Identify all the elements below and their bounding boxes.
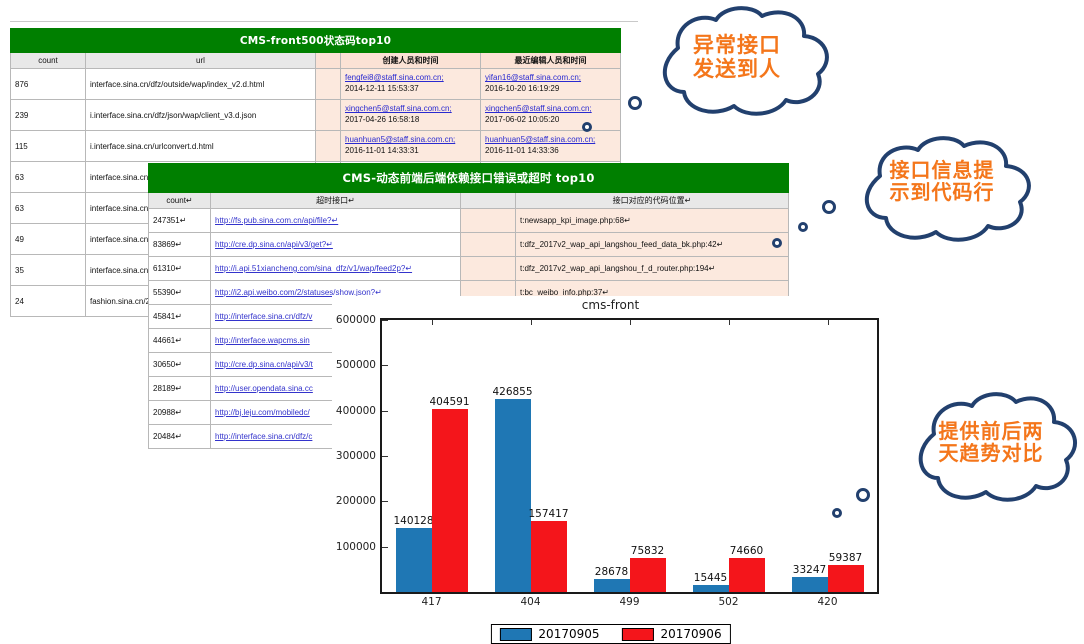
legend-item[interactable]: 20170906 xyxy=(622,627,722,641)
editor-time: 2016-11-01 14:33:36 xyxy=(485,146,616,157)
x-tick-label: 420 xyxy=(817,596,837,608)
callout-1-tail-dot-large xyxy=(628,96,642,110)
table1-header-creator: 创建人员和时间 xyxy=(341,53,481,69)
bar-group: 2867875832499 xyxy=(580,320,679,592)
callout-3-tail-dot-large xyxy=(856,488,870,502)
cell-code-location: t:dfz_2017v2_wap_api_langshou_feed_data_… xyxy=(516,233,789,257)
table2-header-count: count↵ xyxy=(149,193,211,209)
bar-value-label: 157417 xyxy=(528,508,568,520)
cell-count: 876 xyxy=(11,69,86,100)
x-tick-mark xyxy=(531,320,532,325)
cell-url: i.interface.sina.cn/dfz/json/wap/client_… xyxy=(86,100,316,131)
x-tick-label: 404 xyxy=(520,596,540,608)
creator-email-link[interactable]: huanhuan5@staff.sina.com.cn; xyxy=(345,135,455,144)
table-row: 61310↵ http://i.api.51xiancheng.com/sina… xyxy=(149,257,789,281)
table1-header-gap xyxy=(316,53,341,69)
bar-group: 3324759387420 xyxy=(778,320,877,592)
y-tick-label: 400000 xyxy=(336,405,376,417)
callout-3-line1: 提供前后两 xyxy=(898,420,1084,442)
cell-count: 20484↵ xyxy=(149,425,211,449)
callout-2-tail-dot-mid xyxy=(798,222,808,232)
api-url-link[interactable]: http://interface.wapcms.sin xyxy=(215,336,310,345)
cell-count: 30650↵ xyxy=(149,353,211,377)
api-url-link[interactable]: http://cre.dp.sina.cn/api/v3/t xyxy=(215,360,313,369)
table-row: 247351↵ http://fs.pub.sina.com.cn/api/fi… xyxy=(149,209,789,233)
callout-3-line2: 天趋势对比 xyxy=(898,442,1084,464)
cell-count: 55390↵ xyxy=(149,281,211,305)
cell-url: http://cre.dp.sina.cn/api/v3/get?↵ xyxy=(211,233,461,257)
table-row: 876 interface.sina.cn/dfz/outside/wap/in… xyxy=(11,69,621,100)
callout-bubble-3: 提供前后两 天趋势对比 xyxy=(898,390,1084,512)
editor-time: 2017-06-02 10:05:20 xyxy=(485,115,616,126)
bar-group: 140128404591417 xyxy=(382,320,481,592)
bar-20170905-417: 140128 xyxy=(396,528,432,592)
editor-email-link[interactable]: yifan16@staff.sina.com.cn; xyxy=(485,73,581,82)
api-url-link[interactable]: http://cre.dp.sina.cn/api/v3/get?↵ xyxy=(215,240,333,249)
bar-20170905-404: 426855 xyxy=(495,399,531,593)
cell-editor: yifan16@staff.sina.com.cn; 2016-10-20 16… xyxy=(481,69,621,100)
api-url-link[interactable]: http://fs.pub.sina.com.cn/api/file?↵ xyxy=(215,216,338,225)
cell-url: http://i.api.51xiancheng.com/sina_dfz/v1… xyxy=(211,257,461,281)
table1-header-editor: 最近编辑人员和时间 xyxy=(481,53,621,69)
cell-spacer xyxy=(461,209,516,233)
cell-editor: xingchen5@staff.sina.com.cn; 2017-06-02 … xyxy=(481,100,621,131)
cell-count: 83869↵ xyxy=(149,233,211,257)
cell-creator: fengfei8@staff.sina.com.cn; 2014-12-11 1… xyxy=(341,69,481,100)
cell-creator: huanhuan5@staff.sina.com.cn; 2016-11-01 … xyxy=(341,131,481,162)
cell-spacer xyxy=(461,257,516,281)
table-row: 239 i.interface.sina.cn/dfz/json/wap/cli… xyxy=(11,100,621,131)
api-url-link[interactable]: http://i.api.51xiancheng.com/sina_dfz/v1… xyxy=(215,264,412,273)
api-url-link[interactable]: http://interface.sina.cn/dfz/c xyxy=(215,432,312,441)
cell-editor: huanhuan5@staff.sina.com.cn; 2016-11-01 … xyxy=(481,131,621,162)
callout-3-text: 提供前后两 天趋势对比 xyxy=(898,420,1084,465)
callout-2-line1: 接口信息提 xyxy=(838,159,1046,181)
creator-email-link[interactable]: xingchen5@staff.sina.com.cn; xyxy=(345,104,452,113)
x-tick-mark xyxy=(828,320,829,325)
bar-value-label: 140128 xyxy=(393,515,433,527)
cell-spacer xyxy=(461,233,516,257)
callout-bubble-2: 接口信息提 示到代码行 xyxy=(838,134,1046,250)
cell-spacer xyxy=(316,131,341,162)
bar-20170905-502: 15445 xyxy=(693,585,729,592)
table2-title: CMS-动态前端后端依赖接口错误或超时 top10 xyxy=(149,164,789,193)
legend-swatch xyxy=(499,628,531,641)
bar-value-label: 404591 xyxy=(429,396,469,408)
callout-1-line1: 异常接口 xyxy=(634,34,840,58)
cell-creator: xingchen5@staff.sina.com.cn; 2017-04-26 … xyxy=(341,100,481,131)
table2-header-timeout-api: 超时接口↵ xyxy=(211,193,461,209)
editor-email-link[interactable]: xingchen5@staff.sina.com.cn; xyxy=(485,104,592,113)
x-tick-mark xyxy=(630,320,631,325)
x-tick-label: 499 xyxy=(619,596,639,608)
table1-title: CMS-front500状态码top10 xyxy=(11,29,621,53)
cell-count: 63 xyxy=(11,162,86,193)
cell-spacer xyxy=(316,69,341,100)
api-url-link[interactable]: http://interface.sina.cn/dfz/v xyxy=(215,312,312,321)
legend-item[interactable]: 20170905 xyxy=(499,627,599,641)
bar-20170905-499: 28678 xyxy=(594,579,630,592)
chart-legend: 2017090520170906 xyxy=(490,624,730,644)
bar-value-label: 33247 xyxy=(793,564,826,576)
cell-count: 45841↵ xyxy=(149,305,211,329)
cell-spacer xyxy=(316,100,341,131)
api-url-link[interactable]: http://user.opendata.sina.cc xyxy=(215,384,313,393)
cell-url: interface.sina.cn/dfz/outside/wap/index_… xyxy=(86,69,316,100)
bar-20170906-417: 404591 xyxy=(432,409,468,592)
bar-value-label: 15445 xyxy=(694,572,727,584)
y-tick-label: 600000 xyxy=(336,314,376,326)
callout-1-line2: 发送到人 xyxy=(634,58,840,82)
legend-label: 20170906 xyxy=(661,627,722,641)
cell-count: 63 xyxy=(11,193,86,224)
bar-value-label: 59387 xyxy=(829,552,862,564)
cell-count: 239 xyxy=(11,100,86,131)
table1-header-url: url xyxy=(86,53,316,69)
cell-count: 247351↵ xyxy=(149,209,211,233)
x-tick-mark xyxy=(729,320,730,325)
bar-value-label: 75832 xyxy=(631,545,664,557)
table-row: 115 i.interface.sina.cn/urlconvert.d.htm… xyxy=(11,131,621,162)
chart-plot-area: 100000200000300000400000500000600000 140… xyxy=(380,318,879,594)
cell-count: 115 xyxy=(11,131,86,162)
x-tick-label: 502 xyxy=(718,596,738,608)
y-tick-label: 200000 xyxy=(336,495,376,507)
cell-count: 61310↵ xyxy=(149,257,211,281)
legend-label: 20170905 xyxy=(538,627,599,641)
callout-bubble-1: 异常接口 发送到人 xyxy=(634,4,840,124)
cell-count: 28189↵ xyxy=(149,377,211,401)
bar-20170906-420: 59387 xyxy=(828,565,864,592)
cell-code-location: t:newsapp_kpi_image.php:68↵ xyxy=(516,209,789,233)
editor-email-link[interactable]: huanhuan5@staff.sina.com.cn; xyxy=(485,135,595,144)
callout-2-line2: 示到代码行 xyxy=(838,181,1046,203)
callout-3-tail-dot-small xyxy=(832,508,842,518)
cell-count: 20988↵ xyxy=(149,401,211,425)
creator-time: 2017-04-26 16:58:18 xyxy=(345,115,476,126)
bar-value-label: 74660 xyxy=(730,545,763,557)
cell-count: 44661↵ xyxy=(149,329,211,353)
bar-20170906-502: 74660 xyxy=(729,558,765,592)
bar-group: 426855157417404 xyxy=(481,320,580,592)
bar-value-label: 28678 xyxy=(595,566,628,578)
x-tick-mark xyxy=(432,320,433,325)
api-url-link[interactable]: http://bj.leju.com/mobiledc/ xyxy=(215,408,310,417)
y-tick-label: 300000 xyxy=(336,450,376,462)
cell-code-location: t:dfz_2017v2_wap_api_langshou_f_d_router… xyxy=(516,257,789,281)
creator-email-link[interactable]: fengfei8@staff.sina.com.cn; xyxy=(345,73,444,82)
bar-20170906-499: 75832 xyxy=(630,558,666,592)
x-tick-label: 417 xyxy=(421,596,441,608)
bar-20170906-404: 157417 xyxy=(531,521,567,592)
cell-url: i.interface.sina.cn/urlconvert.d.html xyxy=(86,131,316,162)
bar-chart-cms-front: cms-front 100000200000300000400000500000… xyxy=(332,296,889,644)
top-divider-rule xyxy=(10,21,638,22)
legend-swatch xyxy=(622,628,654,641)
chart-bars: 1401284045914174268551574174042867875832… xyxy=(382,320,877,592)
callout-1-text: 异常接口 发送到人 xyxy=(634,34,840,81)
cell-url: http://fs.pub.sina.com.cn/api/file?↵ xyxy=(211,209,461,233)
table2-header-gap xyxy=(461,193,516,209)
table1-header-count: count xyxy=(11,53,86,69)
cell-count: 24 xyxy=(11,286,86,317)
y-tick-label: 500000 xyxy=(336,359,376,371)
bar-value-label: 426855 xyxy=(492,386,532,398)
callout-1-tail-dot-small xyxy=(582,122,592,132)
editor-time: 2016-10-20 16:19:29 xyxy=(485,84,616,95)
chart-title: cms-front xyxy=(332,298,889,312)
bar-group: 1544574660502 xyxy=(679,320,778,592)
callout-2-tail-dot-small xyxy=(772,238,782,248)
bar-20170905-420: 33247 xyxy=(792,577,828,592)
callout-2-text: 接口信息提 示到代码行 xyxy=(838,159,1046,204)
table-row: 83869↵ http://cre.dp.sina.cn/api/v3/get?… xyxy=(149,233,789,257)
creator-time: 2016-11-01 14:33:31 xyxy=(345,146,476,157)
table2-header-code-location: 接口对应的代码位置↵ xyxy=(516,193,789,209)
creator-time: 2014-12-11 15:53:37 xyxy=(345,84,476,95)
cell-count: 35 xyxy=(11,255,86,286)
y-tick-label: 100000 xyxy=(336,541,376,553)
cell-count: 49 xyxy=(11,224,86,255)
callout-2-tail-dot-large xyxy=(822,200,836,214)
